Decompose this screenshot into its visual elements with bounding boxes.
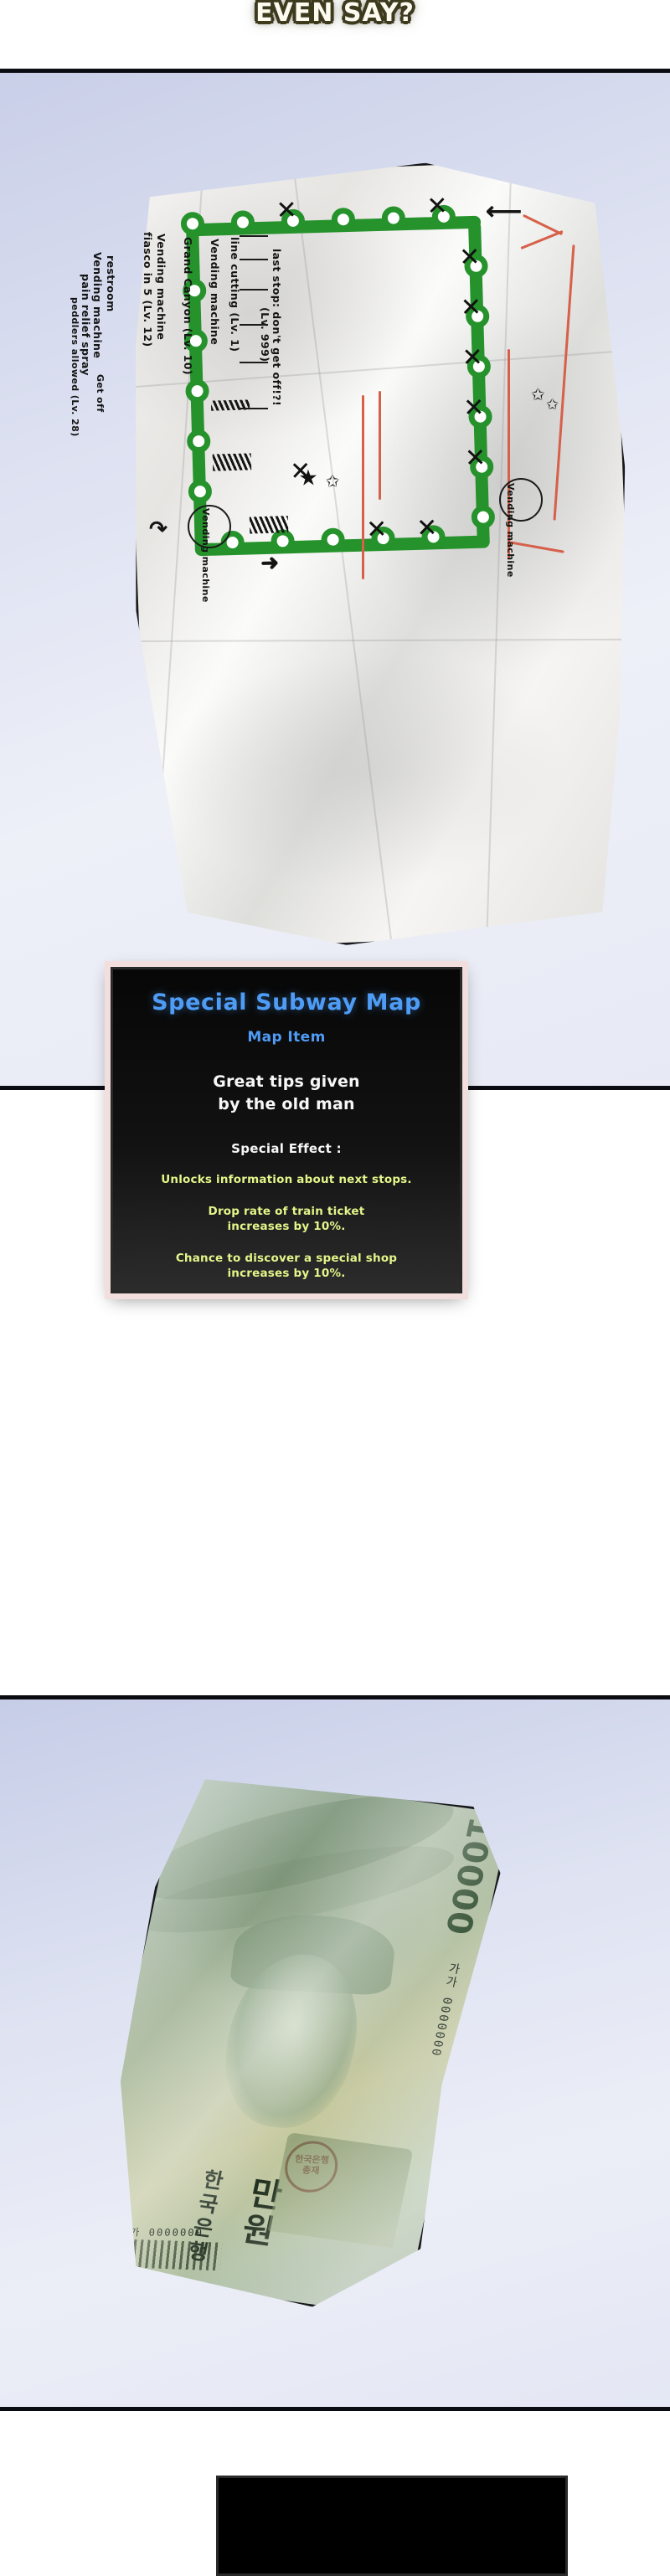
station-node	[185, 379, 209, 404]
item-effect-1: Unlocks information about next stops.	[128, 1172, 445, 1188]
label-leader-line	[240, 324, 268, 326]
note-denomination: 10000	[437, 1814, 501, 1937]
crossed-station-mark: ✕	[416, 518, 439, 541]
note-serial-left: 가가 0000000	[118, 2225, 204, 2239]
map-label-vending-3: Vending machine	[209, 239, 221, 345]
map-label-fiasco: fiasco in 5 (Lv. 12)	[142, 232, 154, 347]
bottom-dialogue-card	[216, 2476, 568, 2576]
map-label-line-cutting: line cutting (Lv. 1)	[229, 237, 241, 352]
red-annotation-squiggle	[379, 391, 381, 500]
station-node	[472, 505, 496, 529]
item-description-line-1: Great tips given	[128, 1071, 445, 1093]
banknote-panel: 10000 가가 0000000 한국은행 총재 한국은행 만원 가가 0000…	[0, 1695, 670, 2411]
star-mark: ✩	[325, 470, 339, 491]
map-label-restroom: restroom	[105, 255, 117, 312]
note-gate-illustration	[268, 2132, 414, 2248]
item-effect-header: Special Effect :	[128, 1141, 445, 1156]
map-label-get-off: Get off	[95, 374, 106, 413]
label-leader-line	[240, 259, 268, 260]
direction-arrow: ↷	[149, 516, 168, 542]
crossed-station-mark: ✕	[461, 348, 484, 371]
star-mark: ★	[298, 465, 318, 491]
top-sfx-banner: EVEN SAY?	[0, 0, 670, 69]
red-annotation-squiggle	[362, 395, 364, 579]
item-effect-3: Chance to discover a special shop increa…	[128, 1251, 445, 1282]
item-description-line-2: by the old man	[128, 1093, 445, 1116]
map-label-last-stop: last stop: don't get off!?!	[271, 249, 283, 406]
vending-circle-annotation	[499, 478, 543, 522]
label-leader-line	[240, 362, 268, 363]
vending-circle-annotation	[188, 505, 231, 548]
map-label-vending-2: Vending machine	[155, 234, 167, 340]
label-leader-line	[240, 235, 268, 237]
crossed-station-mark: ✕	[461, 298, 483, 321]
map-label-peddlers: peddlers allowed (Lv. 28)	[70, 297, 80, 437]
crossed-station-mark: ✕	[426, 197, 449, 219]
star-mark: ✩	[531, 384, 545, 405]
map-label-vending-1: Vending machine	[91, 252, 104, 358]
item-info-card: Special Subway Map Map Item Great tips g…	[111, 967, 462, 1293]
crossed-station-mark: ✕	[276, 201, 298, 224]
direction-arrow: ➜	[260, 550, 280, 577]
crossed-station-mark: ✕	[463, 398, 486, 421]
scribble-mark	[250, 516, 289, 533]
crossed-station-mark: ✕	[366, 520, 389, 542]
label-leader-line	[240, 289, 268, 291]
label-leader-line	[240, 408, 268, 409]
scribble-mark	[213, 453, 252, 470]
station-node	[187, 429, 211, 454]
map-label-pain-relief: pain relief spray	[80, 274, 92, 376]
crossed-station-mark: ✕	[459, 248, 482, 270]
note-barcode	[118, 2239, 223, 2270]
sfx-text: EVEN SAY?	[0, 0, 670, 28]
map-label-last-stop-level: (Lv. 999)	[259, 307, 271, 362]
crossed-station-mark: ✕	[465, 449, 487, 471]
star-mark: ✩	[546, 396, 559, 414]
item-effect-2: Drop rate of train ticket increases by 1…	[128, 1204, 445, 1235]
item-title: Special Subway Map	[128, 990, 445, 1015]
subway-map-panel: ✕ ✕ ✕ ✕ ✕ ✕ ✕ ✕ ✕ ✕ ★ ✩ ↷ ➜ ⟵ restroom V…	[0, 69, 670, 1090]
korean-banknote: 10000 가가 0000000 한국은행 총재 한국은행 만원 가가 0000…	[73, 1766, 513, 2320]
item-subtitle: Map Item	[128, 1029, 445, 1046]
station-node	[188, 480, 213, 504]
map-label-grand-canyon: Grand Canyon (Lv. 10)	[182, 237, 194, 375]
note-serial-right: 가가 0000000	[426, 1962, 463, 2059]
incoming-direction-arrow: ⟵	[486, 197, 522, 226]
